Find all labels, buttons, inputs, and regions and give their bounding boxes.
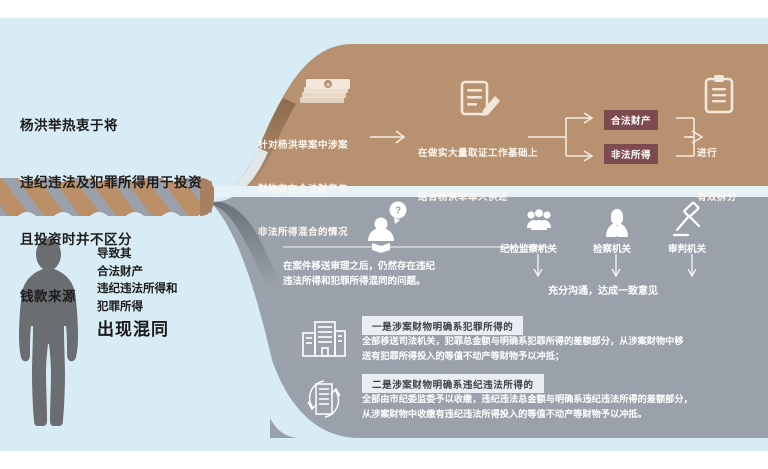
card-2-body: 全部由市纪委监委予以收缴，违纪违法总金额与明确系违纪违法所得的差额部分， 从涉案… [362, 392, 767, 421]
question-line-2: 违法所得和犯罪所得混同的问题。 [283, 274, 551, 289]
brown-step-3-text: 进行 有效拆分 [697, 118, 737, 234]
brown-step-1-text: 针对杨洪举案中涉案 财物存在合法财产与 非法所得混合的情况 [258, 110, 348, 270]
lower-left-line-3: 违纪违法所得和 [97, 281, 178, 299]
card-1-body-line-1: 全部移送司法机关，犯罪总金额与明确系犯罪所得的差额部分，从涉案财物中移 [362, 334, 767, 349]
headline-line-2: 违纪违法及犯罪所得用于投资 [20, 173, 260, 192]
consensus-text: 充分沟通，达成一致意见 [548, 282, 658, 297]
agency-label-procuratorate: 检察机关 [593, 241, 631, 255]
card-2-title: 二是涉案财物明确系违纪违法所得的 [362, 374, 544, 393]
lower-left-line-1: 导致其 [97, 246, 178, 264]
agency-label-court: 审判机关 [668, 241, 706, 255]
infographic-canvas: ¥ [0, 0, 768, 469]
question-statement: 在案件移送审理之后，仍然存在违纪 违法所得和犯罪所得混同的问题。 [283, 259, 551, 289]
brown-step-1-line-1: 针对杨洪举案中涉案 [258, 139, 348, 154]
brown-step-3-line-1: 进行 [697, 147, 737, 162]
brown-step-3-line-2: 有效拆分 [697, 191, 737, 206]
tag-legal-property: 合法财产 [604, 110, 658, 130]
tag-illegal-gains: 非法所得 [604, 144, 658, 164]
brown-step-1-line-2: 财物存在合法财产与 [258, 183, 348, 198]
lower-left-line-2: 合法财产 [97, 264, 178, 282]
lower-left-emphasis: 出现混同 [97, 318, 178, 342]
card-2-body-line-2: 从涉案财物中收缴有违纪违法所得投入的等值不动产等财物予以冲抵。 [362, 407, 767, 422]
question-line-1: 在案件移送审理之后，仍然存在违纪 [283, 259, 551, 274]
card-2-body-line-1: 全部由市纪委监委予以收缴，违纪违法总金额与明确系违纪违法所得的差额部分， [362, 392, 767, 407]
agency-label-discipline-inspection: 纪检监察机关 [500, 241, 557, 255]
svg-text:?: ? [395, 206, 401, 217]
card-1-title: 一是涉案财物明确系犯罪所得的 [362, 316, 523, 335]
brown-step-1-line-3: 非法所得混合的情况 [258, 226, 348, 241]
lower-left-statement: 导致其 合法财产 违纪违法所得和 犯罪所得 出现混同 [97, 246, 178, 342]
banknote-stack-icon: ¥ [300, 79, 350, 103]
card-1-body-line-2: 送有犯罪所得投入的等值不动产等财物予以冲抵； [362, 349, 767, 364]
headline-line-1: 杨洪举热衷于将 [20, 116, 260, 135]
brown-step-2-text: 在做实大量取证工作基础上 结合杨洪举本人供述 [418, 118, 538, 234]
brown-step-2-line-1: 在做实大量取证工作基础上 [418, 147, 538, 162]
brown-step-2-line-2: 结合杨洪举本人供述 [418, 191, 538, 206]
card-1-body: 全部移送司法机关，犯罪总金额与明确系犯罪所得的差额部分，从涉案财物中移 送有犯罪… [362, 334, 767, 363]
lower-left-line-4: 犯罪所得 [97, 299, 178, 317]
